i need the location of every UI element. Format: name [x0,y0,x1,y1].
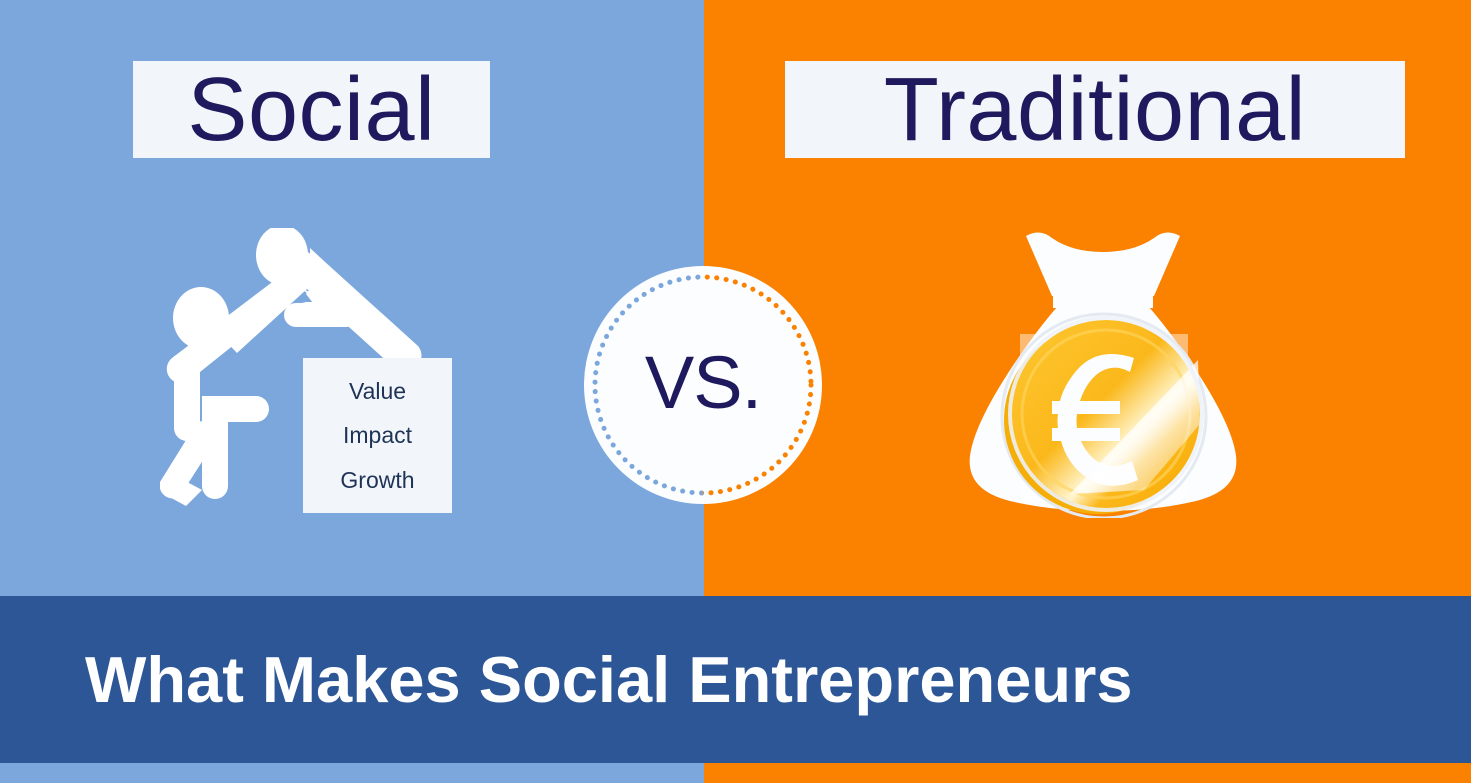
traditional-heading: Traditional [785,61,1405,158]
social-heading: Social [133,61,490,158]
bottom-banner: What Makes Social Entrepreneurs [0,596,1471,763]
value-line-2: Impact [343,424,412,447]
vs-badge: VS. [583,265,823,505]
value-line-3: Growth [340,469,414,492]
banner-title: What Makes Social Entrepreneurs [85,647,1133,712]
value-impact-growth-box: Value Impact Growth [303,358,452,513]
value-line-1: Value [349,380,406,403]
vs-label: VS. [583,265,823,505]
infographic-canvas: Social Value Impact Growth [0,0,1471,783]
money-bag-with-euro-coin-icon [948,218,1258,518]
